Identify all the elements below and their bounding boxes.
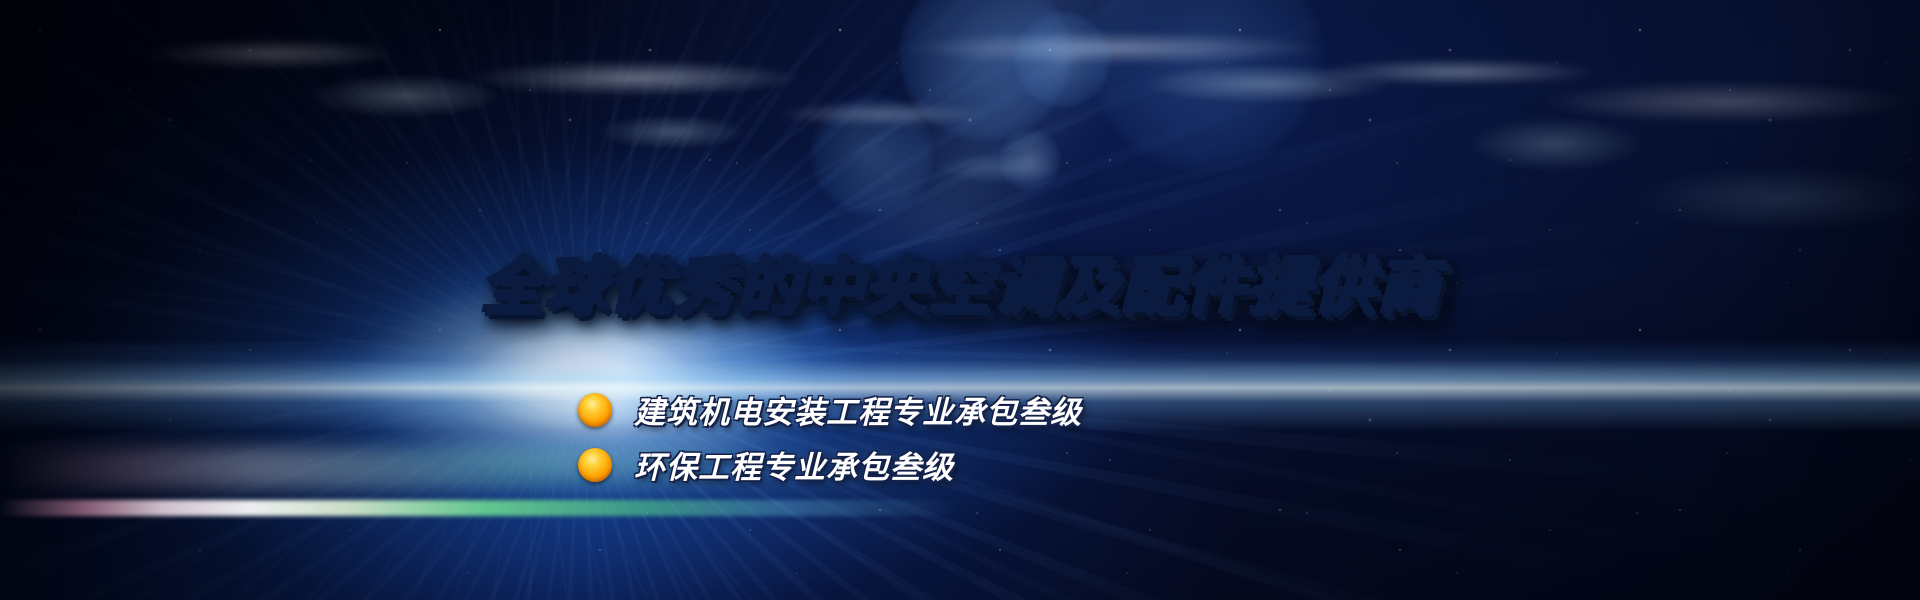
- list-item-label: 建筑机电安装工程专业承包叁级: [634, 387, 1082, 432]
- orange-dot-icon: [578, 448, 612, 482]
- list-item: 环保工程专业承包叁级: [578, 437, 1082, 492]
- orange-dot-icon: [578, 393, 612, 427]
- certification-list: 建筑机电安装工程专业承包叁级 环保工程专业承包叁级: [578, 382, 1082, 492]
- hero-banner: 全球优秀的中央空调及配件提供商 建筑机电安装工程专业承包叁级 环保工程专业承包叁…: [0, 0, 1920, 600]
- page-title: 全球优秀的中央空调及配件提供商: [0, 254, 1920, 319]
- banner-content: 全球优秀的中央空调及配件提供商 建筑机电安装工程专业承包叁级 环保工程专业承包叁…: [0, 0, 1920, 600]
- list-item: 建筑机电安装工程专业承包叁级: [578, 382, 1082, 437]
- list-item-label: 环保工程专业承包叁级: [634, 442, 954, 487]
